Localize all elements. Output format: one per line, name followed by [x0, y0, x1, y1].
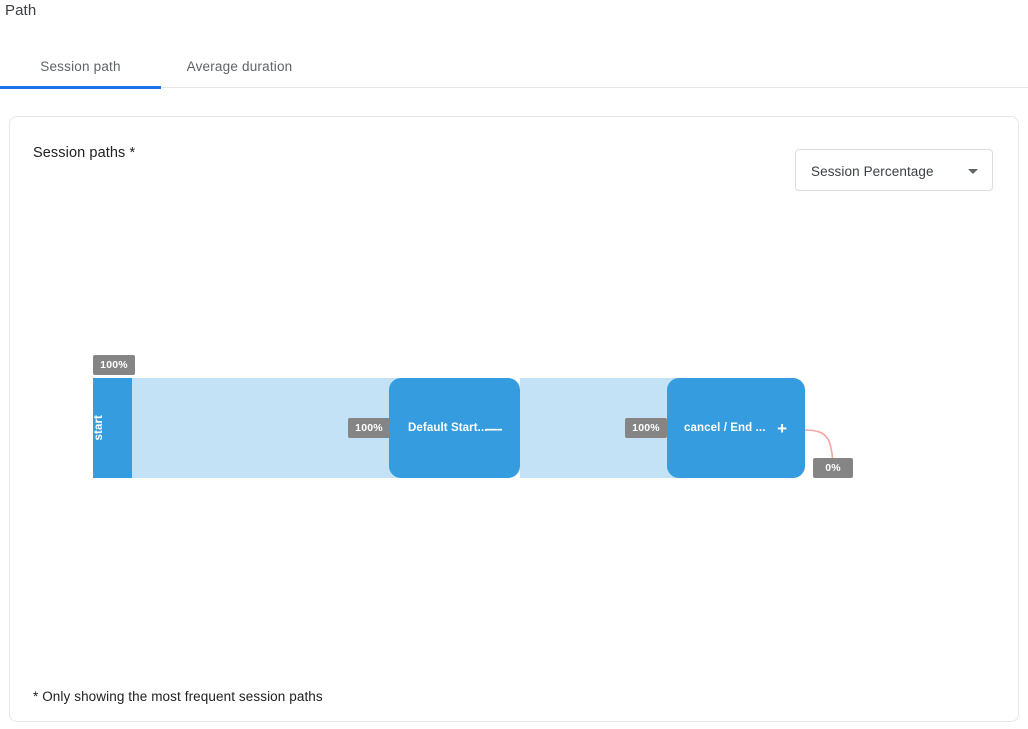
- sankey-badge-dropoff: 0%: [813, 458, 853, 478]
- sankey-badge-start-to-default: 100%: [348, 418, 390, 438]
- sankey-badge-start-total: 100%: [93, 355, 135, 375]
- sankey-node-default-start[interactable]: Default Start... —: [389, 378, 520, 478]
- sankey-diagram: start Default Start... — cancel / End ..…: [10, 117, 1020, 657]
- tab-session-path-label: Session path: [40, 59, 120, 74]
- page-title: Path: [5, 2, 36, 19]
- sankey-node-start[interactable]: start: [93, 378, 132, 478]
- sankey-badge-default-to-cancel: 100%: [625, 418, 667, 438]
- expand-icon[interactable]: +: [777, 420, 787, 437]
- tab-bar: Session path Average duration: [0, 44, 1028, 88]
- tab-average-duration[interactable]: Average duration: [161, 44, 318, 88]
- sankey-node-cancel-end-label: cancel / End ...: [684, 422, 766, 434]
- sankey-node-default-start-label: Default Start...: [408, 422, 488, 434]
- card-footnote: * Only showing the most frequent session…: [33, 689, 323, 704]
- session-paths-card: Session paths * Session Percentage start…: [9, 116, 1019, 722]
- tab-average-duration-label: Average duration: [187, 59, 293, 74]
- sankey-node-start-label: start: [93, 415, 132, 440]
- sankey-node-cancel-end[interactable]: cancel / End ... +: [667, 378, 805, 478]
- tab-session-path[interactable]: Session path: [0, 44, 161, 88]
- collapse-icon[interactable]: —: [485, 420, 502, 437]
